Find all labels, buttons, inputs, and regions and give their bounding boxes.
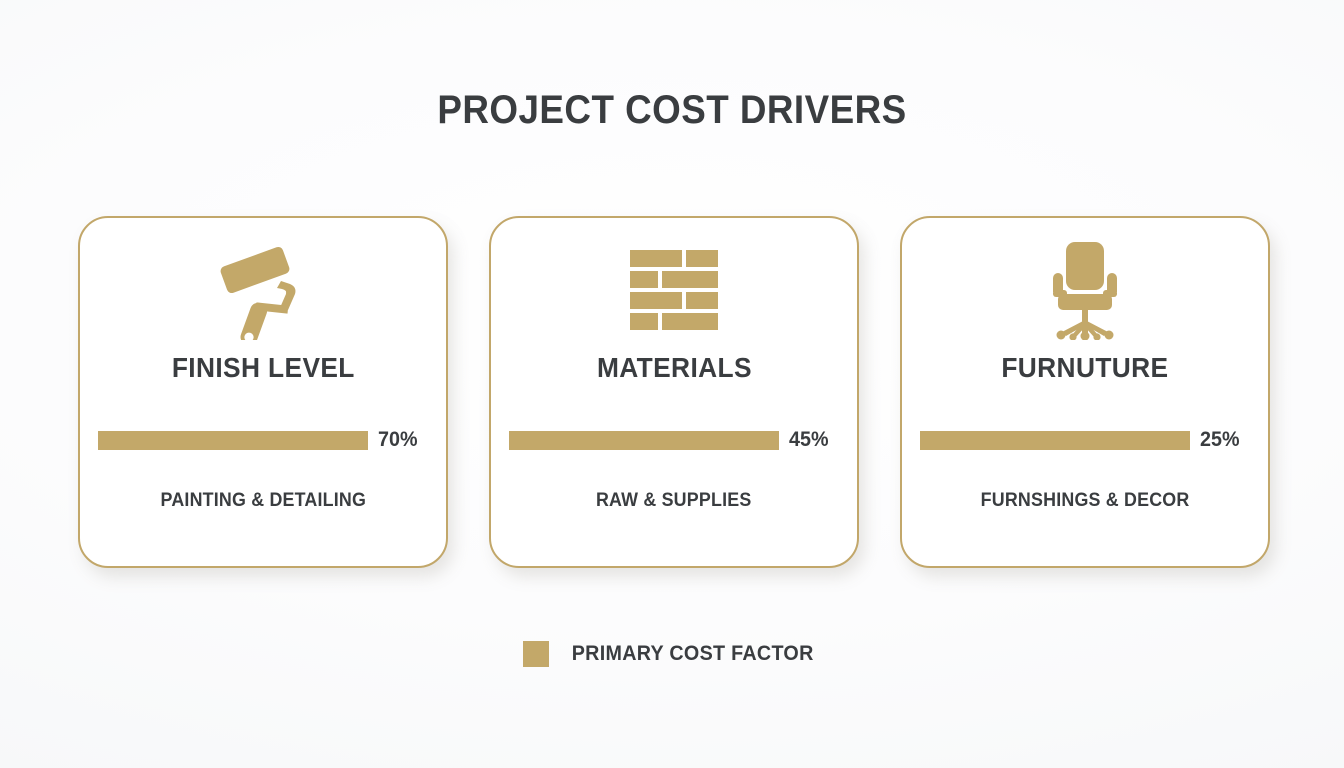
progress-percent-label: 45% — [789, 428, 836, 452]
progress-bar-fill — [98, 431, 368, 450]
legend-label: PRIMARY COST FACTOR — [572, 642, 814, 666]
card-caption: PAINTING & DETAILING — [160, 490, 366, 512]
progress-bar-track[interactable] — [920, 431, 1190, 450]
cost-driver-card-materials[interactable]: MATERIALS 45% RAW & SUPPLIES — [489, 216, 859, 568]
card-caption: FURNSHINGS & DECOR — [981, 490, 1190, 512]
progress-bar-fill — [509, 431, 779, 450]
cost-driver-card-finish-level[interactable]: FINISH LEVEL 70% PAINTING & DETAILING — [78, 216, 448, 568]
office-chair-icon — [1042, 230, 1128, 350]
progress-bar-track[interactable] — [98, 431, 368, 450]
cost-driver-cards: FINISH LEVEL 70% PAINTING & DETAILING — [78, 216, 1270, 568]
card-caption: RAW & SUPPLIES — [596, 490, 751, 512]
progress-percent-label: 70% — [378, 428, 425, 452]
card-title: FURNUTURE — [1001, 352, 1168, 384]
card-title: FINISH LEVEL — [172, 352, 355, 384]
progress-bar-row: 25% — [920, 428, 1250, 452]
progress-bar-fill — [920, 431, 1190, 450]
progress-bar-track[interactable] — [509, 431, 779, 450]
page-title: PROJECT COST DRIVERS — [54, 88, 1290, 133]
legend-swatch-icon — [523, 641, 549, 667]
progress-bar-row: 45% — [509, 428, 839, 452]
legend: PRIMARY COST FACTOR — [0, 641, 1344, 667]
cost-driver-card-furniture[interactable]: FURNUTURE 25% FURNSHINGS & DECOR — [900, 216, 1270, 568]
paint-roller-icon — [218, 230, 308, 350]
progress-bar-row: 70% — [98, 428, 428, 452]
infographic-stage: PROJECT COST DRIVERS — [0, 0, 1344, 768]
card-title: MATERIALS — [597, 352, 752, 384]
progress-percent-label: 25% — [1200, 428, 1247, 452]
brick-wall-icon — [628, 230, 720, 350]
